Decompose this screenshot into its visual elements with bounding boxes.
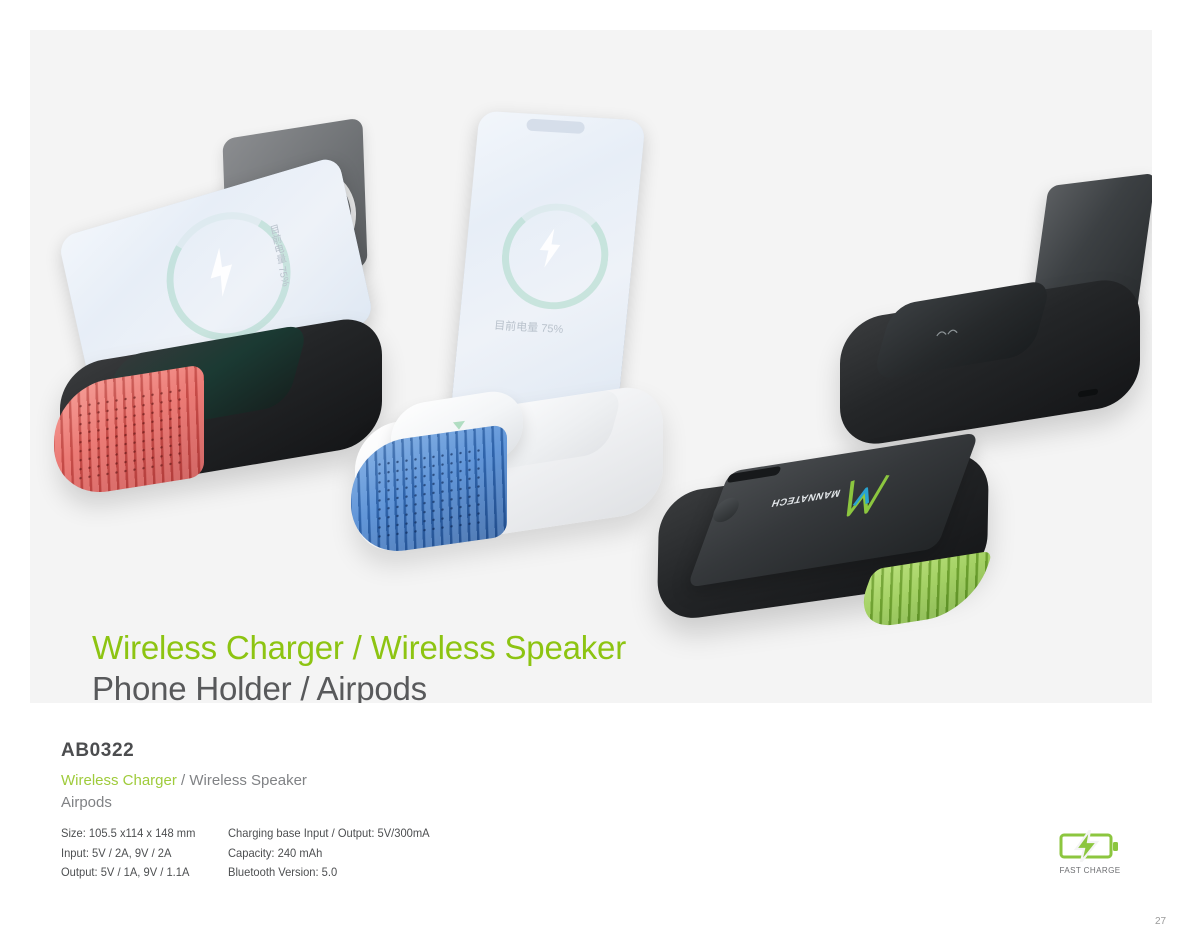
spec-item: Input: 5V / 2A, 9V / 2A xyxy=(61,844,195,864)
specs-column-right: Charging base Input / Output: 5V/300mA C… xyxy=(228,824,445,883)
product-photo-stage: 目前电量 75% xyxy=(30,30,1152,703)
hero-title-line1: Wireless Charger / Wireless Speaker xyxy=(92,627,626,668)
hero-title-line2: Phone Holder / Airpods xyxy=(92,668,427,703)
fast-charge-badge: FAST CHARGE xyxy=(1055,830,1125,875)
product-description-line2: Airpods xyxy=(61,794,112,811)
grille-holes xyxy=(375,445,485,538)
product-photo-panel: 目前电量 75% xyxy=(30,30,1152,703)
speaker-grille-blue xyxy=(351,424,507,558)
phone-portrait: 目前电量 75% xyxy=(450,111,645,426)
specs-column-left: Size: 105.5 x114 x 148 mm Input: 5V / 2A… xyxy=(61,824,206,883)
fast-charge-label: FAST CHARGE xyxy=(1057,865,1124,875)
spec-item: Bluetooth Version: 5.0 xyxy=(228,863,430,883)
spec-item: Output: 5V / 1A, 9V / 1.1A xyxy=(61,863,195,883)
product-black-unit-open: MANNATECH xyxy=(830,180,1150,460)
spec-item: Size: 105.5 x114 x 148 mm xyxy=(61,824,195,844)
product-sku: AB0322 xyxy=(61,740,134,762)
speaker-grille-red xyxy=(54,364,204,500)
spec-item: Charging base Input / Output: 5V/300mA xyxy=(228,824,430,844)
product-black-unit-folded: MANNATECH xyxy=(640,430,1040,640)
product-red-unit: 目前电量 75% xyxy=(60,120,400,490)
description-green-part: Wireless Charger xyxy=(61,772,177,789)
fast-charge-battery-icon xyxy=(1059,830,1121,862)
catalog-page: 目前电量 75% xyxy=(0,0,1182,945)
page-number: 27 xyxy=(1155,916,1166,927)
description-gray-part: / Wireless Speaker xyxy=(177,772,307,789)
spec-item: Capacity: 240 mAh xyxy=(228,844,430,864)
lightning-bolt-icon xyxy=(533,226,567,270)
product-description-line1: Wireless Charger / Wireless Speaker xyxy=(61,772,307,789)
